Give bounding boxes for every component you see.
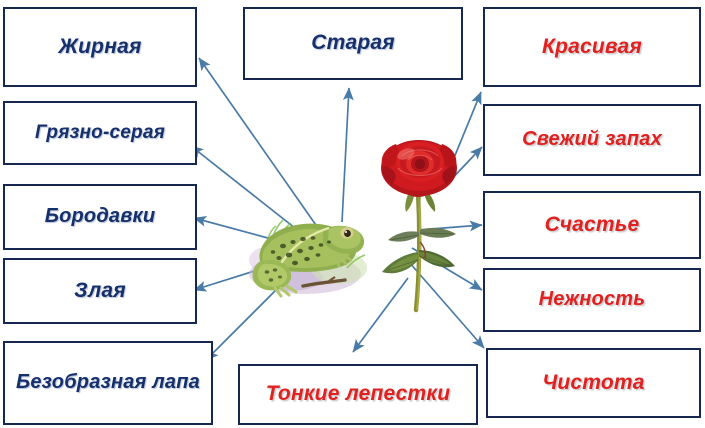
box-zhirnaya[interactable]: Жирная — [3, 7, 197, 87]
box-zhirnaya-label: Жирная — [52, 35, 147, 60]
box-bezobraznaya-lapa[interactable]: Безобразная лапа — [3, 341, 213, 425]
box-svezhiy-zapah-label: Свежий запах — [516, 128, 668, 152]
box-nezhnost[interactable]: Нежность — [483, 268, 701, 332]
box-krasivaya-label: Красивая — [536, 35, 648, 60]
box-schastye-label: Счастье — [539, 213, 646, 238]
box-nezhnost-label: Нежность — [533, 288, 652, 312]
box-zlaya[interactable]: Злая — [3, 258, 197, 324]
box-chistota-label: Чистота — [536, 371, 650, 396]
box-bezobraznaya-lapa-label: Безобразная лапа — [10, 371, 206, 395]
box-gryazno-seraya[interactable]: Грязно-серая — [3, 101, 197, 165]
box-zlaya-label: Злая — [68, 279, 132, 304]
diagram-canvas: Жирная Грязно-серая Бородавки Злая Безоб… — [0, 0, 705, 428]
box-schastye[interactable]: Счастье — [483, 191, 701, 259]
box-krasivaya[interactable]: Красивая — [483, 7, 701, 87]
box-tonkie-lepestki-label: Тонкие лепестки — [260, 382, 457, 407]
box-staraya-label: Старая — [305, 31, 401, 56]
box-borodavki-label: Бородавки — [39, 205, 162, 229]
box-borodavki[interactable]: Бородавки — [3, 184, 197, 250]
box-chistota[interactable]: Чистота — [486, 348, 701, 418]
box-svezhiy-zapah[interactable]: Свежий запах — [483, 104, 701, 176]
box-tonkie-lepestki[interactable]: Тонкие лепестки — [238, 364, 478, 425]
rose-illustration — [362, 134, 484, 314]
box-staraya[interactable]: Старая — [243, 7, 463, 80]
box-gryazno-seraya-label: Грязно-серая — [29, 122, 171, 144]
frog-illustration — [243, 198, 373, 300]
